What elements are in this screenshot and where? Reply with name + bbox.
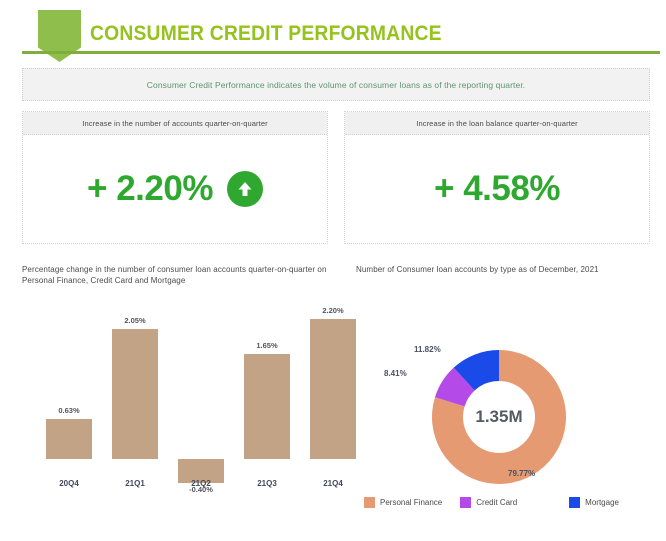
kpi-card-balance-title: Increase in the loan balance quarter-on-… [416, 119, 577, 128]
donut-chart-plot: 1.35M 79.77%8.41%11.82% [356, 287, 656, 487]
legend-item[interactable]: Personal Finance [364, 497, 442, 508]
bar-value-label: 1.65% [236, 341, 298, 350]
bar-column[interactable]: 2.20%21Q4 [310, 297, 356, 497]
arrow-up-circle-icon [227, 171, 263, 207]
kpi-card-row: Increase in the number of accounts quart… [22, 111, 650, 244]
legend-label: Credit Card [476, 498, 517, 507]
legend-label: Personal Finance [380, 498, 442, 507]
page-header: CONSUMER CREDIT PERFORMANCE [0, 0, 666, 62]
bar-column[interactable]: 0.63%20Q4 [46, 297, 92, 497]
bar-chart-panel: Percentage change in the number of consu… [22, 265, 352, 541]
bar-category-label: 21Q4 [302, 479, 364, 488]
legend-swatch [364, 497, 375, 508]
donut-chart-title: Number of Consumer loan accounts by type… [356, 265, 656, 276]
donut-slice-label: 11.82% [414, 345, 441, 354]
bar-column[interactable]: -0.40%21Q2 [178, 297, 224, 497]
legend-swatch [569, 497, 580, 508]
bar-rect[interactable] [46, 419, 92, 459]
charts-row: Percentage change in the number of consu… [0, 265, 666, 541]
legend-item[interactable]: Mortgage [569, 497, 619, 508]
description-text: Consumer Credit Performance indicates th… [147, 80, 526, 90]
kpi-card-accounts-value: + 2.20% [87, 169, 213, 209]
bar-rect[interactable] [244, 354, 290, 459]
kpi-card-balance-value: + 4.58% [434, 169, 560, 209]
donut-chart-legend: Personal FinanceCredit CardMortgage [364, 497, 656, 508]
legend-swatch [460, 497, 471, 508]
kpi-card-accounts-body: + 2.20% [23, 135, 327, 243]
bar-category-label: 21Q1 [104, 479, 166, 488]
donut-chart-panel: Number of Consumer loan accounts by type… [356, 265, 656, 541]
legend-label: Mortgage [585, 498, 619, 507]
kpi-card-accounts-title: Increase in the number of accounts quart… [82, 119, 267, 128]
donut-svg [356, 287, 656, 497]
kpi-card-accounts[interactable]: Increase in the number of accounts quart… [22, 111, 328, 244]
bar-category-label: 20Q4 [38, 479, 100, 488]
kpi-card-accounts-header: Increase in the number of accounts quart… [23, 112, 327, 135]
legend-item[interactable]: Credit Card [460, 497, 517, 508]
kpi-card-balance-header: Increase in the loan balance quarter-on-… [345, 112, 649, 135]
bar-value-label: 2.05% [104, 316, 166, 325]
donut-slice-label: 79.77% [508, 469, 535, 478]
bar-chart-plot: 0.63%20Q42.05%21Q1-0.40%21Q21.65%21Q32.2… [22, 297, 352, 497]
description-banner: Consumer Credit Performance indicates th… [22, 68, 650, 101]
header-divider [22, 51, 660, 54]
bar-column[interactable]: 1.65%21Q3 [244, 297, 290, 497]
kpi-card-balance[interactable]: Increase in the loan balance quarter-on-… [344, 111, 650, 244]
donut-slice-label: 8.41% [384, 369, 407, 378]
bar-rect[interactable] [112, 329, 158, 459]
bar-value-label: 2.20% [302, 306, 364, 315]
bar-category-label: 21Q2 [170, 479, 232, 488]
page-title: CONSUMER CREDIT PERFORMANCE [90, 22, 442, 46]
bar-column[interactable]: 2.05%21Q1 [112, 297, 158, 497]
bar-category-label: 21Q3 [236, 479, 298, 488]
kpi-card-balance-body: + 4.58% [345, 135, 649, 243]
header-flag-icon [38, 10, 81, 62]
bar-chart-title: Percentage change in the number of consu… [22, 265, 352, 287]
bar-value-label: 0.63% [38, 406, 100, 415]
bar-rect[interactable] [310, 319, 356, 459]
